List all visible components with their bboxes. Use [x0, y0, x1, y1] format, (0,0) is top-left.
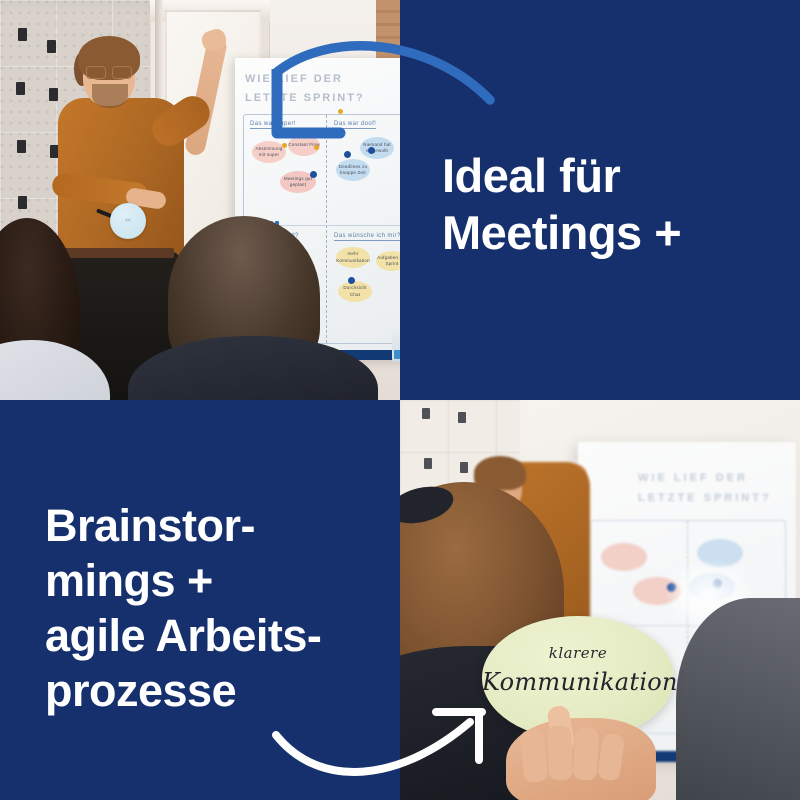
panel-clip-icon [422, 408, 430, 419]
round-card-scribble: ≈≈ [110, 203, 146, 239]
finger [547, 726, 573, 781]
presenter-round-card: ≈≈ [110, 203, 146, 239]
magnet-dot-icon [368, 147, 375, 154]
magnet-dot-icon [348, 277, 355, 284]
promo-collage: ≈≈ WIE LIEF DER LETZTE SPRINT? Das war s… [0, 0, 800, 800]
photo-bottom-right: WIE LIEF DER LETZTE SPRINT? [400, 400, 800, 800]
panel-clip-icon [18, 28, 27, 41]
board-heading: Das wünsche ich mir? [334, 233, 400, 241]
photo-top-left: ≈≈ WIE LIEF DER LETZTE SPRINT? Das war s… [0, 0, 400, 400]
board-heading: Das war super! [250, 121, 296, 129]
panel-bottom-left: Brainstor- mings + agile Arbeits- prozes… [0, 400, 400, 800]
board-title: WIE LIEF DER LETZTE SPRINT? [638, 468, 788, 506]
card-line-2: Kommunikation [482, 668, 674, 696]
headline-ideal-fuer-meetings: Ideal für Meetings + [442, 147, 681, 261]
board-sticker: Deadlines zu knappe Zeit [336, 159, 370, 181]
board-heading: Das war doof! [334, 121, 376, 129]
magnet-dot-icon [344, 151, 351, 158]
panel-clip-icon [47, 40, 56, 53]
board-sticker: Abstimmung mit super [252, 141, 286, 163]
panel-clip-icon [18, 196, 27, 209]
headline-brainstormings-agile-arbeitsprozesse: Brainstor- mings + agile Arbeits- prozes… [45, 498, 321, 718]
board-sticker: Aufgaben pro Sprint [376, 251, 400, 271]
board-title: WIE LIEF DER LETZTE SPRINT? [245, 70, 400, 108]
panel-clip-icon [424, 458, 432, 469]
board-sticker: Niemand hat es gewollt [360, 137, 394, 159]
card-line-1: klarere [482, 644, 674, 662]
glasses-icon [86, 66, 132, 77]
panel-clip-icon [458, 412, 466, 423]
magnet-dot-icon [314, 145, 319, 150]
board-sticker [601, 543, 647, 571]
finger [573, 727, 600, 780]
presenter-beard [92, 84, 128, 108]
presenter-belt [62, 248, 174, 258]
magnet-dot-icon [310, 171, 317, 178]
panel-clip-icon [16, 82, 25, 95]
magnet-dot-icon [338, 109, 343, 114]
board-sticker: Durchsicht Chat [338, 281, 372, 302]
board-divider-vertical [326, 115, 327, 343]
panel-top-right: Ideal für Meetings + [400, 0, 800, 400]
panel-clip-icon [49, 88, 58, 101]
spray-bottle [392, 330, 400, 362]
panel-clip-icon [460, 462, 468, 473]
panel-clip-icon [17, 140, 26, 153]
magnet-dot-icon [282, 143, 287, 148]
board-sticker: mehr Kommunikation [336, 247, 370, 268]
